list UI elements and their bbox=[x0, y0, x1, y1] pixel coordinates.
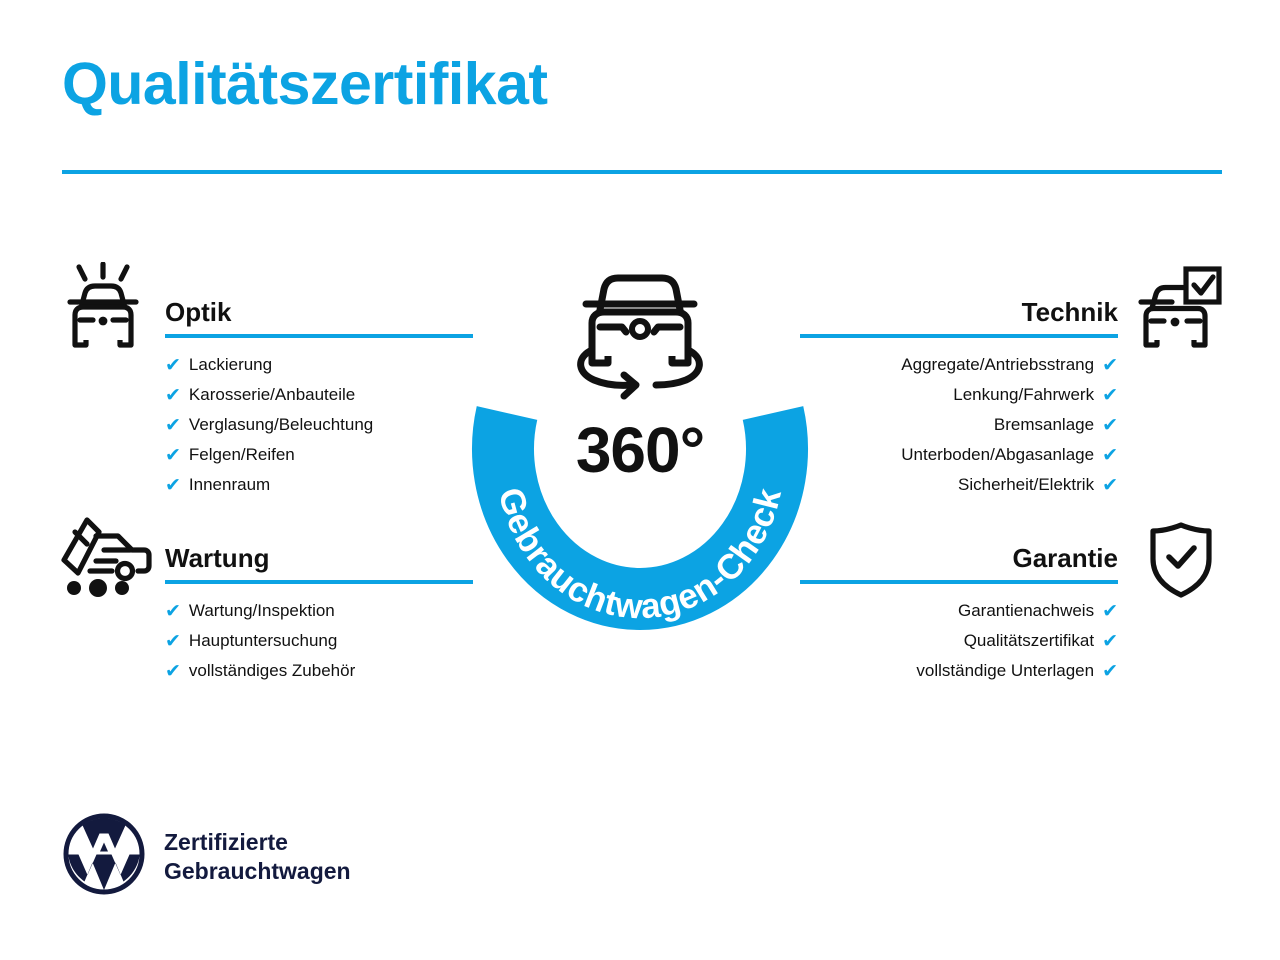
list-item-label: Garantienachweis bbox=[958, 596, 1094, 626]
check-icon: ✔ bbox=[165, 662, 181, 681]
list-item-label: Bremsanlage bbox=[994, 410, 1094, 440]
car-front-shine-icon bbox=[62, 262, 144, 353]
list-item: Bremsanlage ✔ bbox=[800, 410, 1118, 440]
title-divider bbox=[62, 170, 1222, 174]
list-item: ✔ Wartung/Inspektion bbox=[165, 596, 473, 626]
check-icon: ✔ bbox=[165, 632, 181, 651]
footer-logo-line2: Gebrauchtwagen bbox=[164, 857, 351, 886]
shield-check-icon bbox=[1148, 522, 1214, 603]
certificate-page: Qualitätszertifikat Optik ✔ bbox=[0, 0, 1280, 960]
list-item-label: Innenraum bbox=[189, 470, 270, 500]
list-item-label: Karosserie/Anbauteile bbox=[189, 380, 355, 410]
pencil-car-service-icon bbox=[60, 512, 152, 602]
list-item-label: Lackierung bbox=[189, 350, 272, 380]
list-item-label: Qualitätszertifikat bbox=[964, 626, 1094, 656]
page-title: Qualitätszertifikat bbox=[62, 54, 548, 116]
list-item: ✔ Felgen/Reifen bbox=[165, 440, 473, 470]
check-icon: ✔ bbox=[1102, 386, 1118, 405]
list-item: ✔ Lackierung bbox=[165, 350, 473, 380]
check-icon: ✔ bbox=[1102, 602, 1118, 621]
list-item-label: Sicherheit/Elektrik bbox=[958, 470, 1094, 500]
list-item: ✔ Verglasung/Beleuchtung bbox=[165, 410, 473, 440]
check-icon: ✔ bbox=[165, 386, 181, 405]
section-garantie-divider bbox=[800, 580, 1118, 584]
section-technik-title: Technik bbox=[800, 292, 1118, 332]
list-item-label: Unterboden/Abgasanlage bbox=[901, 440, 1094, 470]
section-technik-list: Aggregate/Antriebsstrang ✔ Lenkung/Fahrw… bbox=[800, 350, 1118, 500]
section-garantie-list: Garantienachweis ✔ Qualitätszertifikat ✔… bbox=[800, 596, 1118, 686]
footer-logo-block: Zertifizierte Gebrauchtwagen bbox=[62, 812, 351, 901]
check-icon: ✔ bbox=[1102, 476, 1118, 495]
list-item: ✔ Innenraum bbox=[165, 470, 473, 500]
footer-logo-line1: Zertifizierte bbox=[164, 828, 351, 857]
list-item: vollständige Unterlagen ✔ bbox=[800, 656, 1118, 686]
list-item: ✔ Hauptuntersuchung bbox=[165, 626, 473, 656]
list-item: Unterboden/Abgasanlage ✔ bbox=[800, 440, 1118, 470]
car-front-checkbox-icon bbox=[1138, 266, 1222, 353]
360-check-badge: Gebrauchtwagen-Check 360° bbox=[455, 245, 825, 635]
list-item: Sicherheit/Elektrik ✔ bbox=[800, 470, 1118, 500]
list-item-label: Lenkung/Fahrwerk bbox=[953, 380, 1094, 410]
section-technik: Technik Aggregate/Antriebsstrang ✔ Lenku… bbox=[800, 292, 1118, 500]
check-icon: ✔ bbox=[165, 416, 181, 435]
check-icon: ✔ bbox=[1102, 356, 1118, 375]
section-wartung-title: Wartung bbox=[165, 538, 473, 578]
check-icon: ✔ bbox=[165, 476, 181, 495]
badge-number: 360° bbox=[455, 413, 825, 487]
list-item: ✔ Karosserie/Anbauteile bbox=[165, 380, 473, 410]
list-item: Qualitätszertifikat ✔ bbox=[800, 626, 1118, 656]
check-icon: ✔ bbox=[1102, 662, 1118, 681]
section-optik-list: ✔ Lackierung ✔ Karosserie/Anbauteile ✔ V… bbox=[165, 350, 473, 500]
section-wartung-list: ✔ Wartung/Inspektion ✔ Hauptuntersuchung… bbox=[165, 596, 473, 686]
list-item-label: Aggregate/Antriebsstrang bbox=[901, 350, 1094, 380]
section-wartung-header: Wartung bbox=[165, 538, 473, 582]
list-item-label: vollständige Unterlagen bbox=[916, 656, 1094, 686]
section-garantie-title: Garantie bbox=[800, 538, 1118, 578]
list-item: Lenkung/Fahrwerk ✔ bbox=[800, 380, 1118, 410]
list-item: Garantienachweis ✔ bbox=[800, 596, 1118, 626]
list-item: Aggregate/Antriebsstrang ✔ bbox=[800, 350, 1118, 380]
check-icon: ✔ bbox=[165, 446, 181, 465]
section-optik-divider bbox=[165, 334, 473, 338]
check-icon: ✔ bbox=[165, 602, 181, 621]
section-technik-divider bbox=[800, 334, 1118, 338]
list-item-label: Wartung/Inspektion bbox=[189, 596, 335, 626]
list-item: ✔ vollständiges Zubehör bbox=[165, 656, 473, 686]
check-icon: ✔ bbox=[165, 356, 181, 375]
section-wartung: Wartung ✔ Wartung/Inspektion ✔ Hauptunte… bbox=[165, 538, 473, 686]
section-technik-header: Technik bbox=[800, 292, 1118, 336]
list-item-label: vollständiges Zubehör bbox=[189, 656, 355, 686]
car-rotate-360-icon bbox=[581, 278, 700, 396]
vw-logo bbox=[62, 812, 146, 901]
section-wartung-divider bbox=[165, 580, 473, 584]
section-optik-title: Optik bbox=[165, 292, 473, 332]
list-item-label: Verglasung/Beleuchtung bbox=[189, 410, 373, 440]
section-optik-header: Optik bbox=[165, 292, 473, 336]
section-garantie-header: Garantie bbox=[800, 538, 1118, 582]
section-garantie: Garantie Garantienachweis ✔ Qualitätszer… bbox=[800, 538, 1118, 686]
footer-logo-text: Zertifizierte Gebrauchtwagen bbox=[164, 828, 351, 886]
check-icon: ✔ bbox=[1102, 446, 1118, 465]
section-optik: Optik ✔ Lackierung ✔ Karosserie/Anbautei… bbox=[165, 292, 473, 500]
check-icon: ✔ bbox=[1102, 632, 1118, 651]
list-item-label: Hauptuntersuchung bbox=[189, 626, 337, 656]
check-icon: ✔ bbox=[1102, 416, 1118, 435]
list-item-label: Felgen/Reifen bbox=[189, 440, 295, 470]
